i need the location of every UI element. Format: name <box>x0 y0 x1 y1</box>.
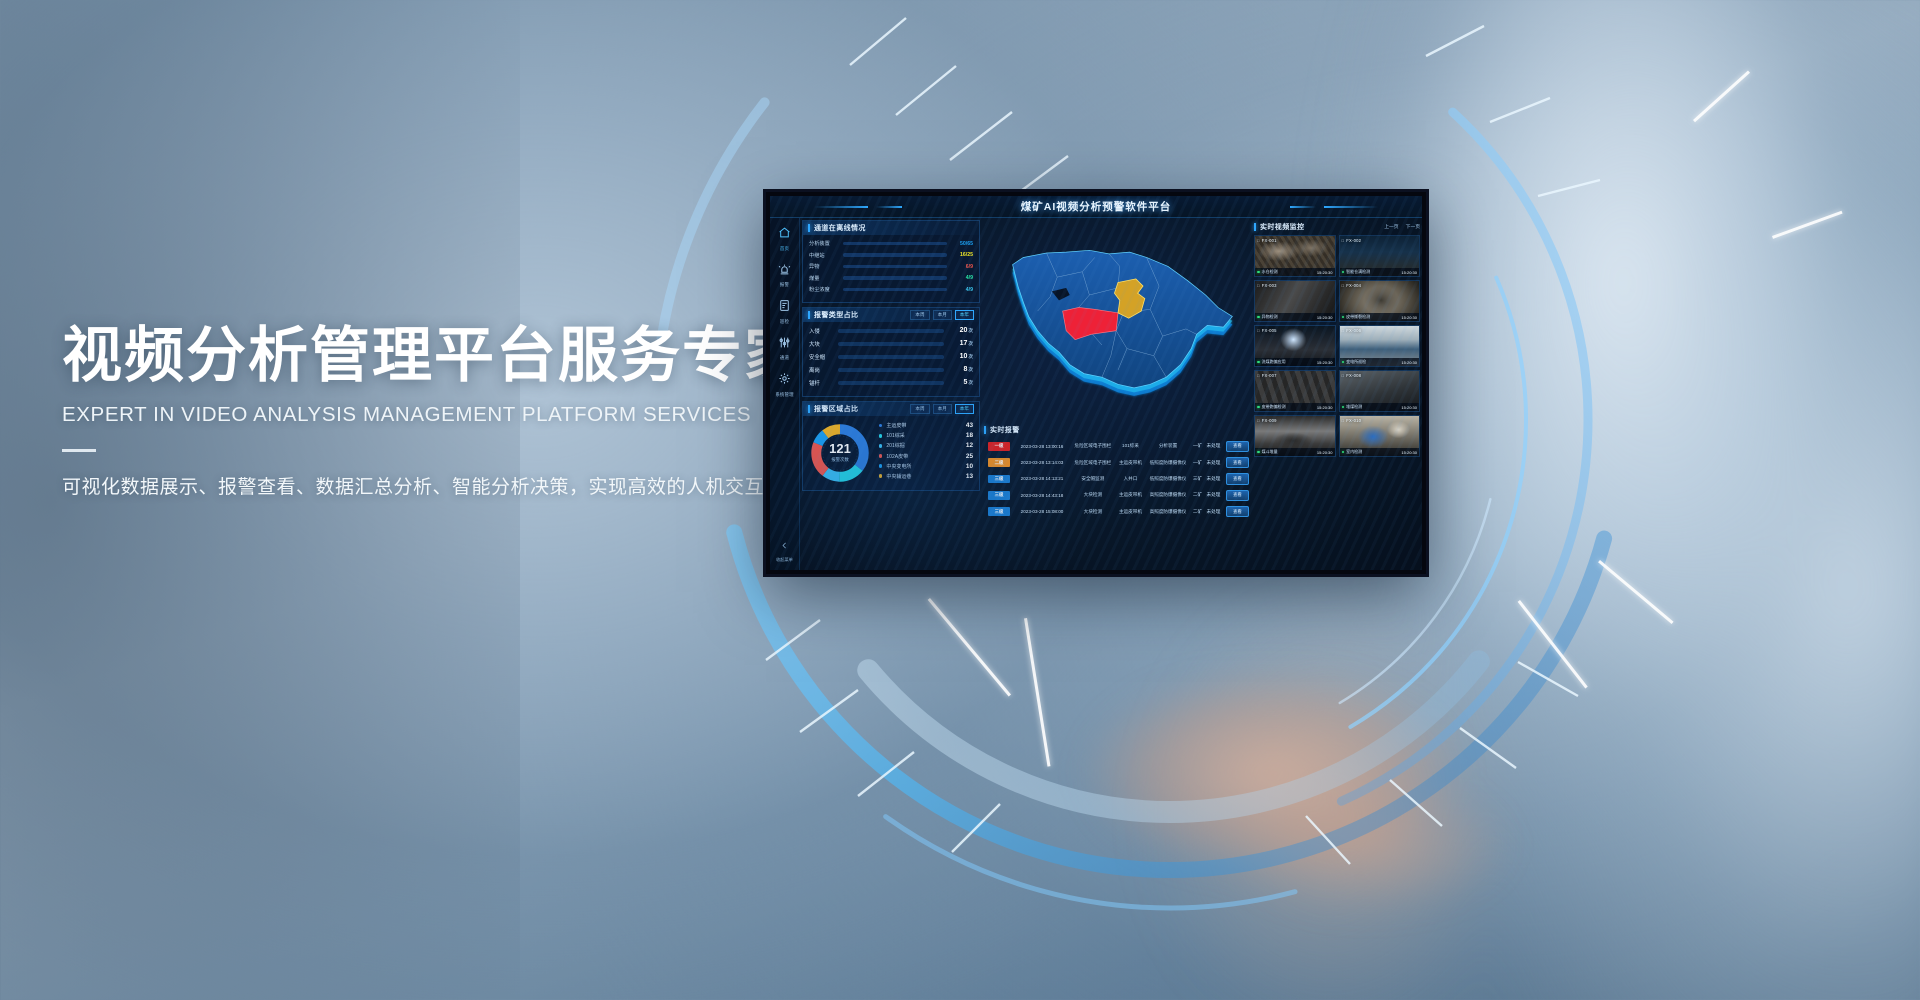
sidebar-item-alarm[interactable]: 报警 <box>770 263 800 289</box>
status-dot <box>1342 406 1345 409</box>
video-cell[interactable]: FX-010 室内检测15:20:30 <box>1339 415 1421 457</box>
alarm-type-row: 入侵 20次 <box>809 327 973 335</box>
alarm-type-row: 大块 17次 <box>809 340 973 348</box>
video-name: 水仓检测 <box>1262 269 1278 275</box>
panel-accent-bar <box>984 426 986 434</box>
legend-dot <box>879 454 882 457</box>
sidebar-item-inspection[interactable]: 巡检 <box>770 299 800 325</box>
alarm-action-cell: 查看 <box>1223 438 1252 454</box>
alarm-type-value: 8次 <box>949 366 973 373</box>
panel-alarm-type: 报警类型占比 本周 本月 本年 入侵 20次 大块 <box>802 307 980 397</box>
panel-title: 报警类型占比 <box>814 310 858 320</box>
alarm-type-track <box>838 381 944 385</box>
alarm-type-track <box>838 368 944 372</box>
donut-center-caption: 报警次数 <box>831 457 849 463</box>
province-map <box>984 220 1252 420</box>
video-cell[interactable]: FX-007 皮带跑偏检测15:20:30 <box>1254 370 1336 412</box>
channel-row-value: 4/9 <box>951 287 973 293</box>
alarm-type: 大块检测 <box>1070 487 1116 503</box>
video-name: 洗煤跑偏应用 <box>1262 359 1286 365</box>
sidebar-label-settings: 系统管理 <box>775 392 793 398</box>
legend-value: 25 <box>966 453 973 460</box>
dashboard-title: 煤矿AI视频分析预警软件平台 <box>770 199 1422 214</box>
dashboard-sidebar: 首页 报警 巡检 通道 <box>770 218 800 570</box>
sidebar-item-channel[interactable]: 通道 <box>770 336 800 362</box>
legend-label: 中央辅运巷 <box>886 473 966 480</box>
alarm-type-rows: 入侵 20次 大块 17次 安全帽 10次 离 <box>803 322 979 396</box>
alarm-status: 未处理 <box>1204 504 1223 520</box>
background-left-shade <box>0 0 520 1000</box>
video-name: 变电所巡检 <box>1346 359 1366 365</box>
view-button[interactable]: 查看 <box>1226 441 1249 452</box>
alarm-area: 主运皮带机 <box>1116 487 1145 503</box>
sidebar-item-home[interactable]: 首页 <box>770 226 800 252</box>
video-channel-id: FX-002 <box>1342 238 1362 243</box>
channel-row-label: 分析装置 <box>809 240 839 247</box>
panel-title: 通道在离线情况 <box>814 223 866 233</box>
dashboard-header: 煤矿AI视频分析预警软件平台 <box>770 196 1422 218</box>
tab-year[interactable]: 本年 <box>955 404 974 414</box>
alarm-grade: 二矿 <box>1191 504 1204 520</box>
video-channel-id: FX-005 <box>1257 328 1277 333</box>
legend-dot <box>879 474 882 477</box>
video-channel-id: FX-008 <box>1342 373 1362 378</box>
sidebar-label-channel: 通道 <box>780 355 789 361</box>
sidebar-collapse[interactable]: 收起菜单 <box>776 537 793 563</box>
legend-item: 主运皮带 43 <box>879 422 973 429</box>
alarm-time: 2023-03-28 14:43:18 <box>1014 487 1070 503</box>
alarm-level-cell: 二级 <box>984 454 1014 470</box>
video-time: 15:20:30 <box>1401 360 1417 365</box>
alarm-device: 低照度防爆摄像仪 <box>1145 454 1191 470</box>
alarm-type-label: 安全帽 <box>809 353 833 361</box>
alarm-type-value: 10次 <box>949 353 973 360</box>
realtime-alarm-table: 一级 2023-03-28 13:00:16 危险区域电子围栏 101综采 分析… <box>984 438 1252 520</box>
video-grid: FX-001 水仓检测15:20:30 FX-002 智能仓满检测15:20:3… <box>1254 235 1420 457</box>
status-badge: 二级 <box>988 458 1010 467</box>
channel-row-value: 4/9 <box>951 275 973 281</box>
table-row[interactable]: 三级 2023-03-28 14:43:18 大块检测 主运皮带机 高照度防爆摄… <box>984 487 1252 503</box>
alarm-type-track <box>838 329 944 333</box>
hero-title: 视频分析管理平台服务专家 <box>62 322 882 389</box>
video-footer: 皮带撕裂检测15:20:30 <box>1340 313 1420 321</box>
prev-page-button[interactable]: 上一页 <box>1384 223 1398 230</box>
hero-divider <box>62 449 96 452</box>
channel-row: 煤量 4/9 <box>809 275 973 282</box>
alarm-icon <box>778 263 791 281</box>
view-button[interactable]: 查看 <box>1226 490 1249 501</box>
video-time: 15:20:30 <box>1317 315 1333 320</box>
alarm-level-cell: 三级 <box>984 487 1014 503</box>
channel-row-track <box>843 242 947 246</box>
view-button[interactable]: 查看 <box>1226 473 1249 484</box>
video-channel-id: FX-006 <box>1342 328 1362 333</box>
alarm-type-track <box>838 355 944 359</box>
video-name: 皮带撕裂检测 <box>1346 314 1370 320</box>
legend-item: 102A皮带 25 <box>879 453 973 460</box>
channel-row: 中继站 16/25 <box>809 252 973 259</box>
alarm-action-cell: 查看 <box>1223 504 1252 520</box>
status-dot <box>1342 271 1345 274</box>
alarm-time: 2023-03-28 13:00:16 <box>1014 438 1070 454</box>
alarm-area: 主运皮带机 <box>1116 504 1145 520</box>
alarm-area: 主运皮带机 <box>1116 454 1145 470</box>
panel-title: 实时视频监控 <box>1260 222 1304 232</box>
alarm-action-cell: 查看 <box>1223 454 1252 470</box>
video-channel-id: FX-007 <box>1257 373 1277 378</box>
table-row[interactable]: 三级 2023-03-28 15:08:00 大块检测 主运皮带机 高照度防爆摄… <box>984 504 1252 520</box>
dashboard-screen: 煤矿AI视频分析预警软件平台 首页 报警 巡检 <box>770 196 1422 570</box>
legend-value: 13 <box>966 473 973 480</box>
tab-year[interactable]: 本年 <box>955 310 974 320</box>
legend-label: 201综掘 <box>886 442 966 449</box>
legend-item: 中央变电所 10 <box>879 463 973 470</box>
video-channel-id: FX-009 <box>1257 418 1277 423</box>
video-time: 15:20:30 <box>1401 405 1417 410</box>
video-cell[interactable]: FX-002 智能仓满检测15:20:30 <box>1339 235 1421 277</box>
video-footer: 智能仓满检测15:20:30 <box>1340 268 1420 276</box>
legend-dot <box>879 464 882 467</box>
alarm-action-cell: 查看 <box>1223 487 1252 503</box>
panel-accent-bar <box>1254 223 1256 231</box>
status-badge: 三级 <box>988 491 1010 500</box>
channel-row-value: 16/25 <box>951 252 973 258</box>
alarm-type-label: 入侵 <box>809 327 833 335</box>
background-hand-blur <box>1020 640 1580 970</box>
alarm-status: 未处理 <box>1204 438 1223 454</box>
alarm-area-legend: 主运皮带 43 101综采 18 201综掘 12 <box>873 422 973 483</box>
decorative-streak <box>1598 560 1673 624</box>
alarm-status: 未处理 <box>1204 471 1223 487</box>
status-dot <box>1342 451 1345 454</box>
video-footer: 堆煤检测15:20:30 <box>1340 403 1420 411</box>
decorative-streak <box>1518 600 1588 689</box>
next-page-button[interactable]: 下一页 <box>1406 223 1420 230</box>
channel-icon <box>778 336 791 354</box>
decorative-streak <box>928 598 1011 696</box>
video-name: 煤斗堆量 <box>1262 449 1278 455</box>
alarm-device: 分析装置 <box>1145 438 1191 454</box>
center-column: 实时报警 一级 2023-03-28 13:00:16 危险区域电子围栏 101… <box>984 220 1252 568</box>
video-cell[interactable]: FX-005 洗煤跑偏应用15:20:30 <box>1254 325 1336 367</box>
alarm-type: 危险区域电子围栏 <box>1070 438 1116 454</box>
channel-row-value: 50/65 <box>951 241 973 247</box>
video-footer: 变电所巡检15:20:30 <box>1340 358 1420 366</box>
legend-label: 102A皮带 <box>886 453 966 460</box>
video-cell[interactable]: FX-009 煤斗堆量15:20:30 <box>1254 415 1336 457</box>
legend-value: 18 <box>966 432 973 439</box>
status-badge: 三级 <box>988 475 1010 484</box>
video-channel-id: FX-001 <box>1257 238 1277 243</box>
video-name: 智能仓满检测 <box>1346 269 1370 275</box>
channel-row-value: 6/9 <box>951 264 973 270</box>
sidebar-item-settings[interactable]: 系统管理 <box>770 372 800 398</box>
video-footer: 水仓检测15:20:30 <box>1255 268 1335 276</box>
alarm-type: 安全帽监测 <box>1070 471 1116 487</box>
video-time: 15:20:30 <box>1401 270 1417 275</box>
status-dot <box>1257 406 1260 409</box>
status-dot <box>1257 451 1260 454</box>
status-dot <box>1257 271 1260 274</box>
video-cell[interactable]: FX-006 变电所巡检15:20:30 <box>1339 325 1421 367</box>
alarm-type-value: 17次 <box>949 340 973 347</box>
legend-value: 12 <box>966 442 973 449</box>
alarm-time: 2023-03-28 14:13:21 <box>1014 471 1070 487</box>
alarm-level-cell: 三级 <box>984 504 1014 520</box>
decorative-streak <box>1693 70 1750 122</box>
tab-week[interactable]: 本周 <box>910 310 929 320</box>
channel-row: 分析装置 50/65 <box>809 240 973 247</box>
tab-month[interactable]: 本月 <box>933 310 952 320</box>
alarm-type-label: 大块 <box>809 340 833 348</box>
home-icon <box>778 226 791 244</box>
video-name: 异物检测 <box>1262 314 1278 320</box>
video-cell[interactable]: FX-008 堆煤检测15:20:30 <box>1339 370 1421 412</box>
sidebar-label-inspection: 巡检 <box>780 319 789 325</box>
alarm-time: 2023-03-28 13:14:03 <box>1014 454 1070 470</box>
legend-dot <box>879 444 882 447</box>
alarm-grade: 一矿 <box>1191 454 1204 470</box>
status-dot <box>1342 316 1345 319</box>
channel-row-label: 中继站 <box>809 252 839 259</box>
panel-accent-bar <box>808 405 810 413</box>
alarm-area: 101综采 <box>1116 438 1145 454</box>
video-footer: 皮带跑偏检测15:20:30 <box>1255 403 1335 411</box>
video-name: 皮带跑偏检测 <box>1262 404 1286 410</box>
alarm-area: 入井口 <box>1116 471 1145 487</box>
view-button[interactable]: 查看 <box>1226 506 1249 517</box>
hero-description: 可视化数据展示、报警查看、数据汇总分析、智能分析决策，实现高效的人机交互 <box>62 472 882 499</box>
alarm-status: 未处理 <box>1204 454 1223 470</box>
alarm-type-row: 离岗 8次 <box>809 366 973 374</box>
video-time: 15:20:30 <box>1401 315 1417 320</box>
alarm-area-chart-block: 121 报警次数 主运皮带 43 101综采 18 <box>803 416 979 490</box>
dashboard-monitor: 煤矿AI视频分析预警软件平台 首页 报警 巡检 <box>766 192 1426 574</box>
panel-realtime-alarm: 实时报警 一级 2023-03-28 13:00:16 危险区域电子围栏 101… <box>984 424 1252 566</box>
alarm-status: 未处理 <box>1204 487 1223 503</box>
alarm-type-value: 5次 <box>949 379 973 386</box>
legend-label: 中央变电所 <box>886 463 966 470</box>
alarm-type-track <box>838 342 944 346</box>
alarm-type-label: 锚杆 <box>809 379 833 387</box>
panel-header: 报警区域占比 本周 本月 本年 <box>803 402 979 416</box>
panel-tabs: 本周 本月 本年 <box>910 404 974 414</box>
channel-row-track <box>843 276 947 280</box>
legend-dot <box>879 434 882 437</box>
video-time: 15:20:30 <box>1317 270 1333 275</box>
panel-channel-status: 通道在离线情况 分析装置 50/65 中继站 16/25 异物 <box>802 220 980 303</box>
channel-status-rows: 分析装置 50/65 中继站 16/25 异物 6/9 <box>803 235 979 302</box>
legend-dot <box>879 424 882 427</box>
status-dot <box>1342 361 1345 364</box>
panel-tabs: 本周 本月 本年 <box>910 310 974 320</box>
legend-item: 中央辅运巷 13 <box>879 473 973 480</box>
alarm-type: 危险区域电子围栏 <box>1070 454 1116 470</box>
alarm-type: 大块检测 <box>1070 504 1116 520</box>
table-row[interactable]: 一级 2023-03-28 13:00:16 危险区域电子围栏 101综采 分析… <box>984 438 1252 454</box>
alarm-grade: 二矿 <box>1191 487 1204 503</box>
video-channel-id: FX-004 <box>1342 283 1362 288</box>
hero-subtitle-en: EXPERT IN VIDEO ANALYSIS MANAGEMENT PLAT… <box>62 403 882 427</box>
legend-value: 10 <box>966 463 973 470</box>
video-time: 15:20:30 <box>1317 450 1333 455</box>
status-badge: 一级 <box>988 442 1010 451</box>
video-time: 15:20:30 <box>1317 360 1333 365</box>
panel-accent-bar <box>808 311 810 319</box>
channel-row-label: 异物 <box>809 263 839 270</box>
alarm-device: 高照度防爆摄像仪 <box>1145 487 1191 503</box>
alarm-level-cell: 一级 <box>984 438 1014 454</box>
decorative-streak <box>1024 618 1050 767</box>
sidebar-label-alarm: 报警 <box>780 282 789 288</box>
video-footer: 室内检测15:20:30 <box>1340 448 1420 456</box>
alarm-type-label: 离岗 <box>809 366 833 374</box>
panel-header: 实时报警 <box>984 424 1252 436</box>
panel-header: 通道在离线情况 <box>803 221 979 235</box>
alarm-type-row: 安全帽 10次 <box>809 353 973 361</box>
video-channel-id: FX-003 <box>1257 283 1277 288</box>
table-row[interactable]: 二级 2023-03-28 13:14:03 危险区域电子围栏 主运皮带机 低照… <box>984 454 1252 470</box>
alarm-device: 低照度防爆摄像仪 <box>1145 471 1191 487</box>
alarm-type-value: 20次 <box>949 327 973 334</box>
panel-title: 实时报警 <box>990 425 1020 435</box>
inspection-icon <box>778 299 791 317</box>
channel-row-track <box>843 265 947 269</box>
donut-center-value: 121 <box>829 442 851 455</box>
status-badge: 三级 <box>988 507 1010 516</box>
tab-week[interactable]: 本周 <box>910 404 929 414</box>
panel-accent-bar <box>808 224 810 232</box>
alarm-action-cell: 查看 <box>1223 471 1252 487</box>
table-row[interactable]: 三级 2023-03-28 14:13:21 安全帽监测 入井口 低照度防爆摄像… <box>984 471 1252 487</box>
status-dot <box>1257 361 1260 364</box>
channel-row-track <box>843 288 947 292</box>
channel-row-label: 煤量 <box>809 275 839 282</box>
legend-item: 101综采 18 <box>879 432 973 439</box>
channel-row: 异物 6/9 <box>809 263 973 270</box>
alarm-grade: 三矿 <box>1191 471 1204 487</box>
left-panel-column: 通道在离线情况 分析装置 50/65 中继站 16/25 异物 <box>802 220 980 568</box>
video-footer: 煤斗堆量15:20:30 <box>1255 448 1335 456</box>
video-name: 堆煤检测 <box>1346 404 1362 410</box>
legend-item: 201综掘 12 <box>879 442 973 449</box>
view-button[interactable]: 查看 <box>1226 457 1249 468</box>
video-channel-id: FX-010 <box>1342 418 1362 423</box>
collapse-icon <box>780 537 789 555</box>
panel-header: 实时视频监控 上一页 下一页 <box>1254 220 1420 233</box>
alarm-area-donut-chart: 121 报警次数 <box>807 420 873 486</box>
hero-text-block: 视频分析管理平台服务专家 EXPERT IN VIDEO ANALYSIS MA… <box>62 322 882 499</box>
legend-label: 主运皮带 <box>886 422 966 429</box>
sidebar-label-home: 首页 <box>780 246 789 252</box>
video-time: 15:20:30 <box>1401 450 1417 455</box>
alarm-level-cell: 三级 <box>984 471 1014 487</box>
video-cell[interactable]: FX-003 异物检测15:20:30 <box>1254 280 1336 322</box>
video-cell[interactable]: FX-004 皮带撕裂检测15:20:30 <box>1339 280 1421 322</box>
tab-month[interactable]: 本月 <box>933 404 952 414</box>
panel-header: 报警类型占比 本周 本月 本年 <box>803 308 979 322</box>
video-footer: 异物检测15:20:30 <box>1255 313 1335 321</box>
channel-row: 粉尘浓度 4/9 <box>809 286 973 293</box>
video-time: 15:20:30 <box>1317 405 1333 410</box>
donut-center: 121 报警次数 <box>807 420 873 486</box>
alarm-device: 高照度防爆摄像仪 <box>1145 504 1191 520</box>
alarm-grade: 一矿 <box>1191 438 1204 454</box>
sidebar-collapse-label: 收起菜单 <box>776 557 793 563</box>
video-name: 室内检测 <box>1346 449 1362 455</box>
decorative-streak <box>1772 211 1843 239</box>
video-footer: 洗煤跑偏应用15:20:30 <box>1255 358 1335 366</box>
video-pagination: 上一页 下一页 <box>1384 223 1420 230</box>
video-cell[interactable]: FX-001 水仓检测15:20:30 <box>1254 235 1336 277</box>
alarm-type-row: 锚杆 5次 <box>809 379 973 387</box>
panel-video-monitor: 实时视频监控 上一页 下一页 FX-001 水仓检测15:20:30 FX-00… <box>1254 220 1420 568</box>
legend-value: 43 <box>966 422 973 429</box>
channel-row-label: 粉尘浓度 <box>809 286 839 293</box>
legend-label: 101综采 <box>886 432 966 439</box>
panel-title: 报警区域占比 <box>814 404 858 414</box>
settings-gear-icon <box>778 372 791 390</box>
channel-row-track <box>843 253 947 257</box>
status-dot <box>1257 316 1260 319</box>
alarm-time: 2023-03-28 15:08:00 <box>1014 504 1070 520</box>
panel-alarm-area: 报警区域占比 本周 本月 本年 <box>802 401 980 491</box>
